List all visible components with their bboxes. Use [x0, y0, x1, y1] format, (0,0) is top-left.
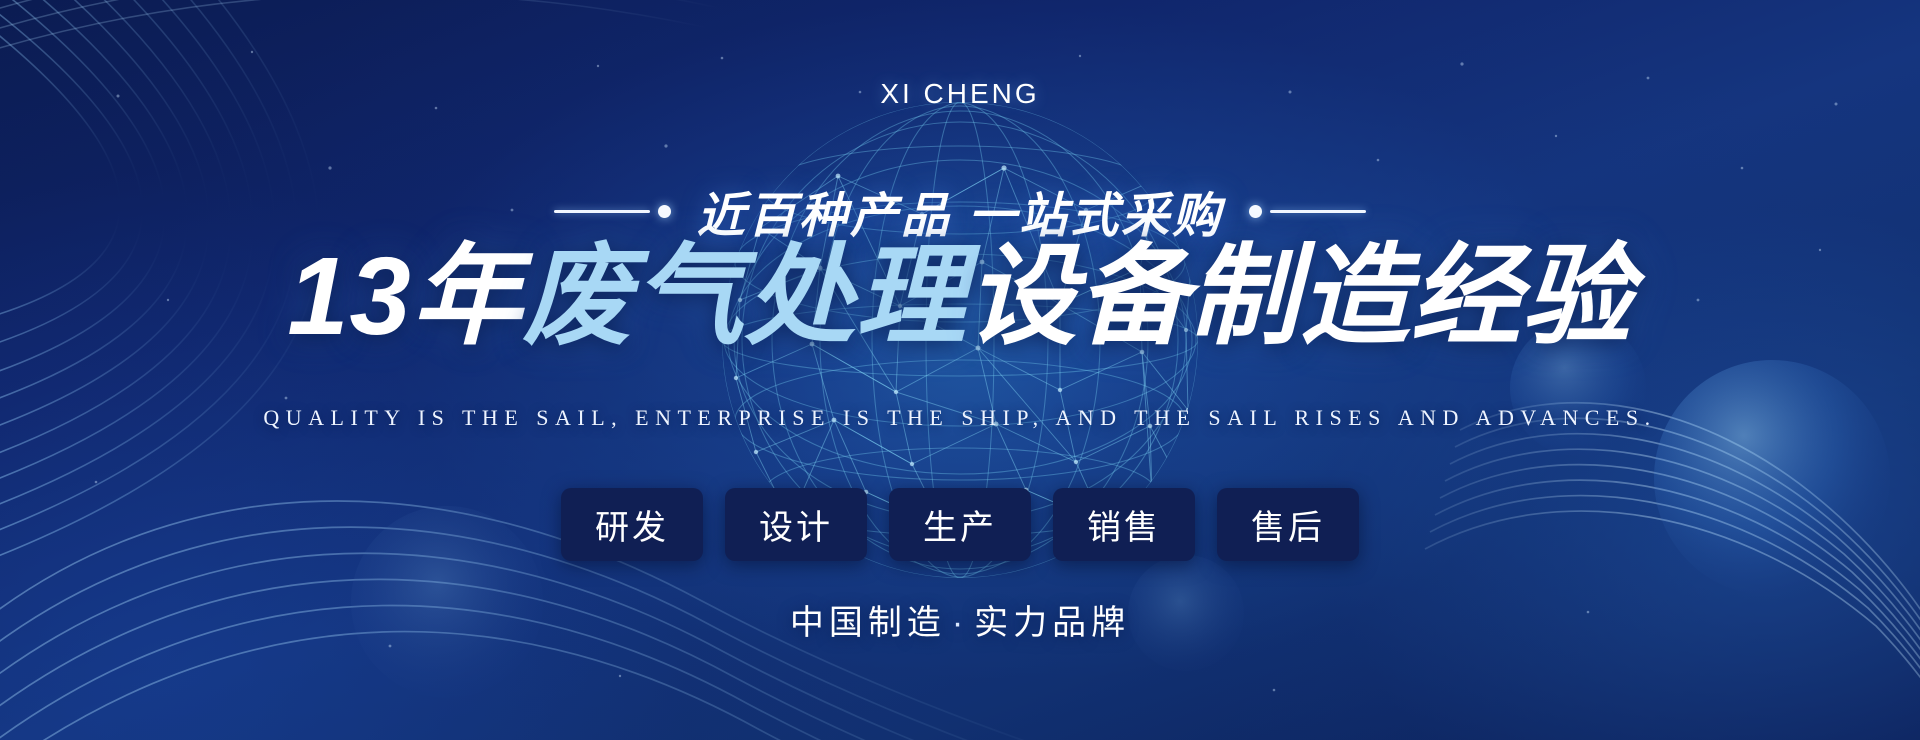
service-chip-research[interactable]: 研发: [561, 488, 703, 561]
service-chip-aftersales[interactable]: 售后: [1217, 488, 1359, 561]
service-chip-sales[interactable]: 销售: [1053, 488, 1195, 561]
decorative-bar-left: [554, 210, 650, 213]
headline-prefix: 13年: [287, 235, 522, 358]
brand-name: XI CHENG: [0, 78, 1920, 110]
banner-headline: 13年废气处理设备制造经验: [0, 228, 1920, 366]
footer-slogan-left: 中国制造: [790, 604, 946, 642]
headline-suffix: 设备制造经验: [967, 235, 1633, 358]
hero-banner: XI CHENG 近百种产品 一站式采购 13年废气处理设备制造经验 QUALI…: [0, 0, 1920, 740]
service-chip-list: 研发 设计 生产 销售 售后: [0, 488, 1920, 561]
headline-highlight: 废气处理: [523, 235, 967, 358]
decorative-line-right: [1249, 205, 1366, 218]
service-chip-production[interactable]: 生产: [889, 488, 1031, 561]
footer-slogan: 中国制造·实力品牌: [0, 595, 1920, 644]
banner-content: XI CHENG 近百种产品 一站式采购 13年废气处理设备制造经验 QUALI…: [0, 0, 1920, 740]
decorative-dot-right: [1249, 205, 1262, 218]
decorative-line-left: [554, 205, 671, 218]
footer-slogan-separator: ·: [946, 604, 974, 642]
service-chip-design[interactable]: 设计: [725, 488, 867, 561]
decorative-bar-right: [1270, 210, 1366, 213]
english-tagline: QUALITY IS THE SAIL, ENTERPRISE IS THE S…: [0, 405, 1920, 431]
footer-slogan-right: 实力品牌: [974, 604, 1130, 642]
decorative-dot-left: [658, 205, 671, 218]
